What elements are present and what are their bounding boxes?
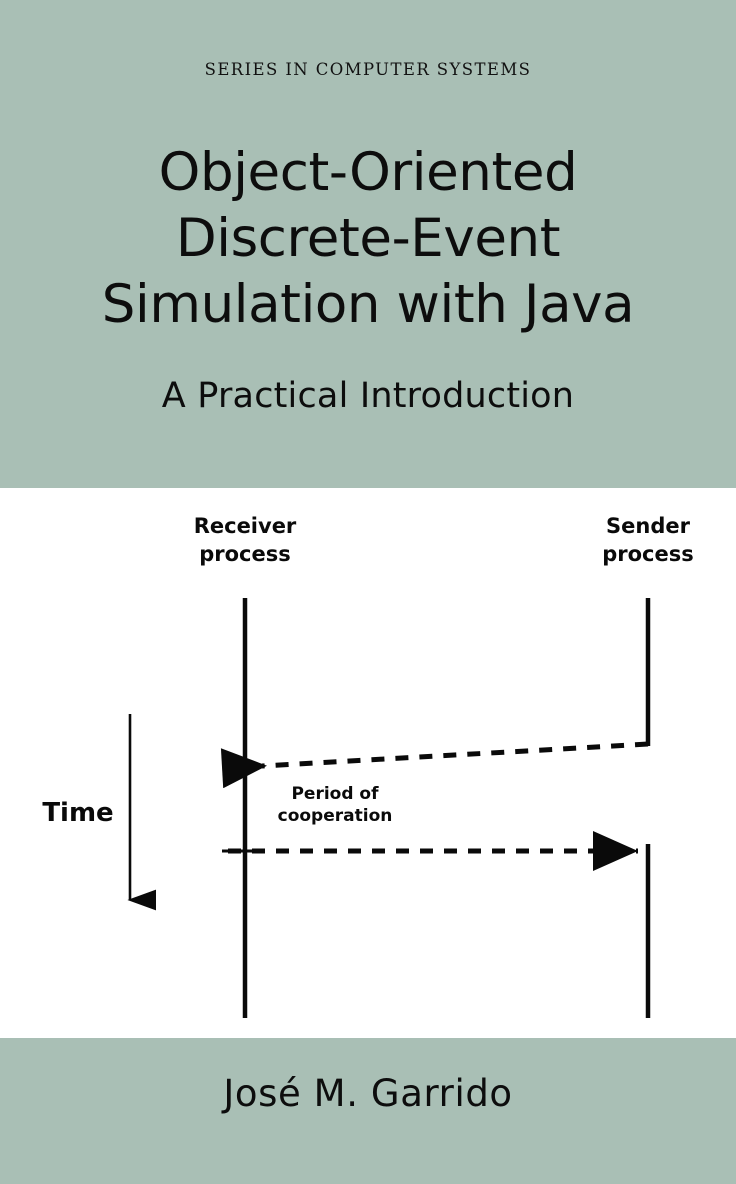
time-axis-label: Time: [42, 798, 113, 828]
title-line-1: Object-Oriented: [0, 140, 736, 206]
title-line-3: Simulation with Java: [0, 272, 736, 338]
receiver-lifeline-label-line2: process: [199, 542, 291, 566]
sender-lifeline-label-line1: Sender: [606, 514, 691, 538]
book-cover: SERIES IN COMPUTER SYSTEMS Object-Orient…: [0, 0, 736, 1184]
receiver-lifeline-label-line1: Receiver: [194, 514, 297, 538]
author-name: José M. Garrido: [0, 1072, 736, 1115]
message-arrow-sender-to-receiver: [262, 744, 648, 766]
book-subtitle: A Practical Introduction: [0, 376, 736, 416]
series-label: SERIES IN COMPUTER SYSTEMS: [0, 60, 736, 79]
sequence-diagram: Receiver process Sender process Period o…: [0, 488, 736, 1038]
sender-lifeline-label-line2: process: [602, 542, 694, 566]
book-title: Object-Oriented Discrete-Event Simulatio…: [0, 140, 736, 338]
title-line-2: Discrete-Event: [0, 206, 736, 272]
cooperation-annotation-line2: cooperation: [278, 806, 393, 826]
cooperation-annotation-line1: Period of: [291, 784, 379, 804]
